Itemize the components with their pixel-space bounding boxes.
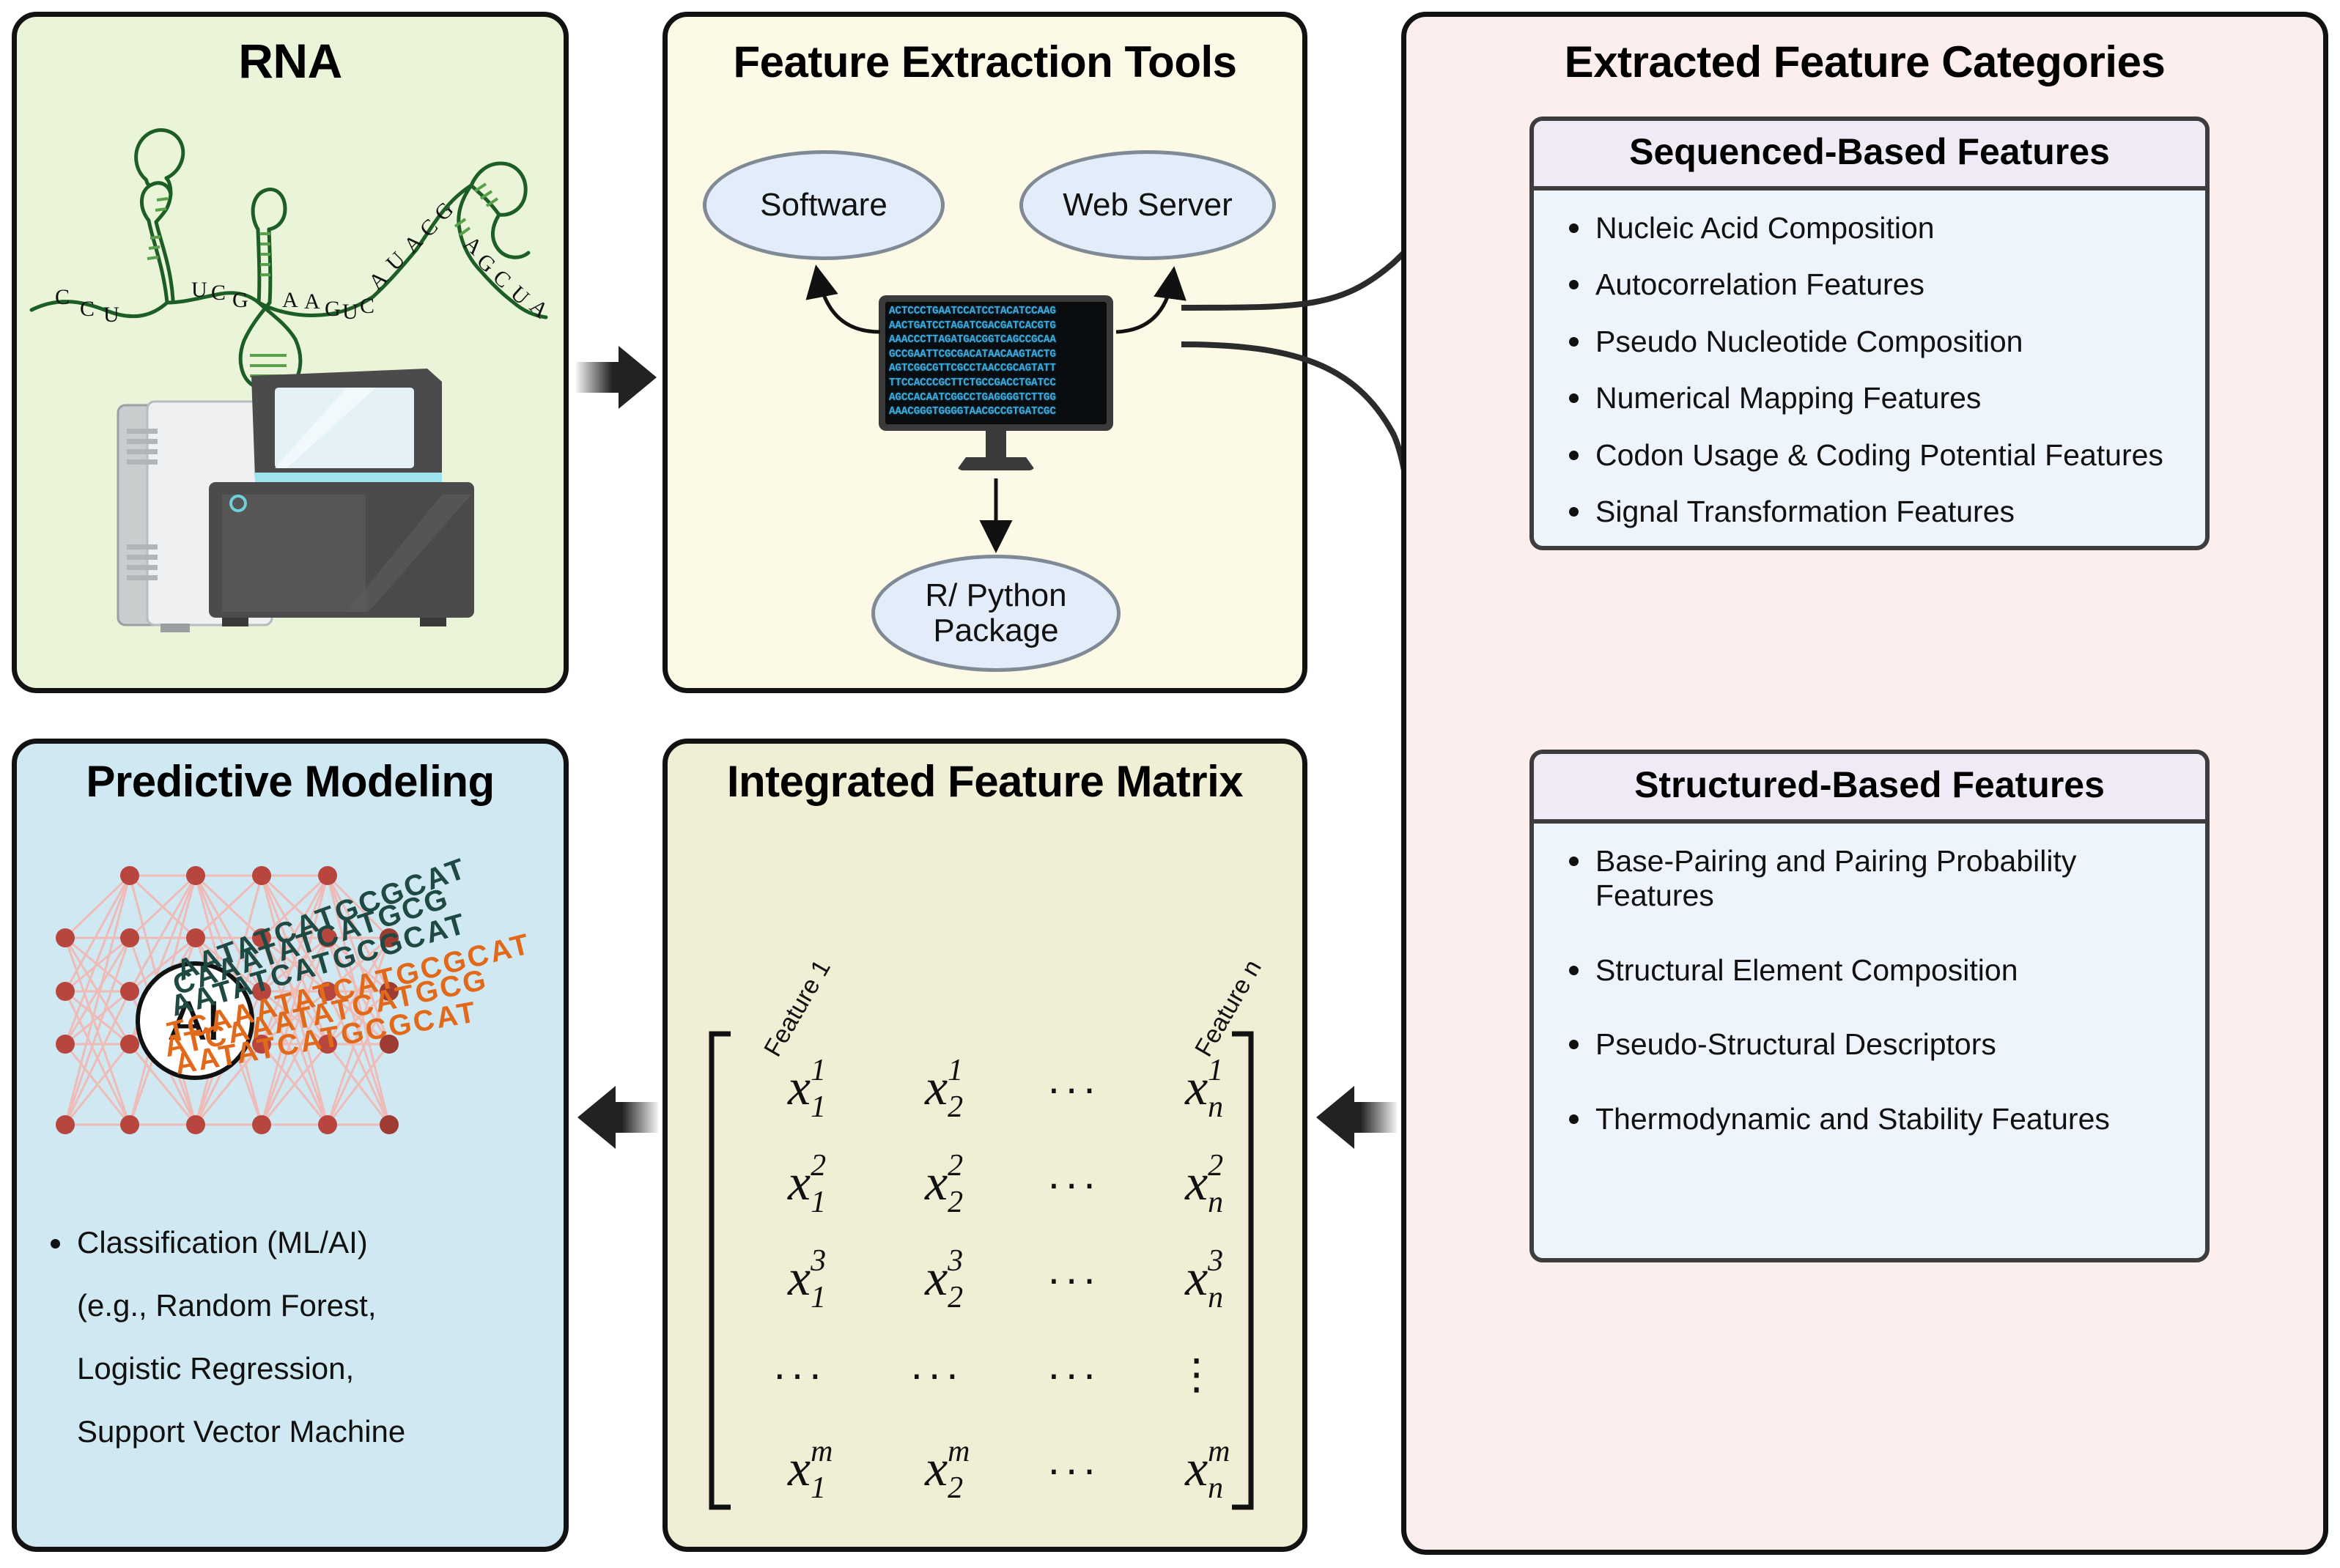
list-item: Codon Usage & Coding Potential Features xyxy=(1556,438,2186,473)
network-node xyxy=(56,982,75,1001)
rna-panel: RNA xyxy=(12,12,569,693)
arrow-left-icon xyxy=(1312,1077,1400,1158)
node-web-server[interactable]: Web Server xyxy=(1019,150,1276,260)
rna-panel-title: RNA xyxy=(17,36,564,86)
svg-text:C: C xyxy=(360,294,374,318)
sequence-line: ACTCCCTGAATCCATCCTACATCCAAG xyxy=(889,305,1103,319)
extracted-features-title: Extracted Feature Categories xyxy=(1406,39,2323,85)
list-item: Signal Transformation Features xyxy=(1556,495,2186,530)
sequenced-based-feature-list: Nucleic Acid Composition Autocorrelation… xyxy=(1534,191,2205,551)
svg-text:A: A xyxy=(525,295,553,323)
list-item: Logistic Regression, xyxy=(39,1353,552,1384)
arrow-to-web-server-icon xyxy=(1116,273,1173,332)
node-software[interactable]: Software xyxy=(703,150,945,260)
network-node xyxy=(318,1115,337,1134)
feature-matrix: Feature 1 Feature n x11 x12 ··· x1n x21 … xyxy=(701,901,1280,1524)
list-item: Base-Pairing and Pairing Probability Fea… xyxy=(1556,844,2186,914)
list-item: Pseudo-Structural Descriptors xyxy=(1556,1027,2186,1062)
rna-secondary-structure-diagram: CCU UCG AAG UC A U A C G A G C U A xyxy=(17,83,574,391)
matrix-cell: xmn xyxy=(1142,1421,1251,1517)
arrow-left-icon xyxy=(573,1077,661,1158)
svg-text:C: C xyxy=(55,285,70,309)
sequence-line: AGTCGGCGTTCGCCTAACCGCAGTATT xyxy=(889,362,1103,377)
svg-text:U: U xyxy=(191,278,207,302)
matrix-cell: xm2 xyxy=(868,1421,1005,1517)
monitor-screen: ACTCCCTGAATCCATCCTACATCCAAG AACTGATCCTAG… xyxy=(879,295,1113,431)
predictive-modeling-title: Predictive Modeling xyxy=(17,758,564,805)
matrix-cell: x1n xyxy=(1142,1040,1251,1136)
matrix-cell: x11 xyxy=(731,1040,868,1136)
list-item: Nucleic Acid Composition xyxy=(1556,211,2186,246)
sequence-readout: ACTCCCTGAATCCATCCTACATCCAAG AACTGATCCTAG… xyxy=(885,302,1107,424)
list-item: Thermodynamic and Stability Features xyxy=(1556,1102,2186,1137)
svg-text:U: U xyxy=(382,247,410,275)
matrix-cell: x2n xyxy=(1142,1136,1251,1231)
network-node xyxy=(56,928,75,947)
sequence-line: AAACCCTTAGATGACGGTCAGCCGCAA xyxy=(889,333,1103,348)
matrix-ellipsis: ··· xyxy=(731,1326,868,1421)
sequence-line: GCCGAATTCGCGACATAACAAGTACTG xyxy=(889,348,1103,363)
matrix-cell: x22 xyxy=(868,1136,1005,1231)
feature-extraction-title: Feature Extraction Tools xyxy=(668,39,1302,85)
table-row: x11 x12 ··· x1n xyxy=(731,1040,1251,1136)
network-node xyxy=(120,928,139,947)
sequenced-based-heading: Sequenced-Based Features xyxy=(1534,121,2205,191)
matrix-cell: x12 xyxy=(868,1040,1005,1136)
matrix-cell: x31 xyxy=(731,1231,868,1326)
svg-text:G: G xyxy=(232,288,248,312)
sequence-line: AAACGGGTGGGGTAACGCCGTGATCGC xyxy=(889,405,1103,420)
node-software-label: Software xyxy=(760,188,887,223)
monitor-stand xyxy=(986,431,1006,460)
arrow-right-icon xyxy=(573,337,661,418)
matrix-ellipsis: ··· xyxy=(1005,1421,1142,1517)
sequence-line: AACTGATCCTAGATCGACGATCACGTG xyxy=(889,319,1103,334)
feature-extraction-tools-panel: Feature Extraction Tools Software Web Se… xyxy=(662,12,1307,693)
table-row: x21 x22 ··· x2n xyxy=(731,1136,1251,1231)
svg-text:U: U xyxy=(506,281,534,310)
network-node xyxy=(120,866,139,885)
matrix-vertical-ellipsis: ⋮ xyxy=(1142,1326,1251,1421)
table-row: xm1 xm2 ··· xmn xyxy=(731,1421,1251,1517)
list-item: Autocorrelation Features xyxy=(1556,267,2186,303)
list-item: (e.g., Random Forest, xyxy=(39,1290,552,1321)
matrix-ellipsis: ··· xyxy=(868,1326,1005,1421)
sequence-line: TTCCACCCGCTTCTGCCGACCTGATCC xyxy=(889,377,1103,391)
computer-monitor-icon: ACTCCCTGAATCCATCCTACATCCAAG AACTGATCCTAG… xyxy=(879,295,1113,478)
network-node xyxy=(252,1115,271,1134)
rna-base-labels: CCU UCG AAG UC A U A C G A G C U A xyxy=(55,197,553,327)
matrix-cell: x21 xyxy=(731,1136,868,1231)
matrix-cell: x3n xyxy=(1142,1231,1251,1326)
svg-text:U: U xyxy=(342,300,358,324)
integrated-feature-matrix-panel: Integrated Feature Matrix Feature 1 Feat… xyxy=(662,739,1307,1552)
svg-text:A: A xyxy=(304,289,320,314)
sequenced-based-features-card: Sequenced-Based Features Nucleic Acid Co… xyxy=(1529,117,2210,550)
network-node xyxy=(186,1115,205,1134)
structured-based-heading: Structured-Based Features xyxy=(1534,754,2205,824)
list-item: Classification (ML/AI) xyxy=(39,1227,552,1258)
network-node xyxy=(120,982,139,1001)
svg-text:U: U xyxy=(103,303,119,327)
dna-sequence-fan: AATATCATGCGCAT CAAATATCATGCG AATATCATGCG… xyxy=(160,817,577,1095)
matrix-ellipsis: ··· xyxy=(1005,1231,1142,1326)
network-node xyxy=(120,1115,139,1134)
matrix-table: x11 x12 ··· x1n x21 x22 ··· x2n x31 x32 … xyxy=(731,1040,1251,1517)
svg-text:G: G xyxy=(325,297,341,321)
matrix-ellipsis: ··· xyxy=(1005,1136,1142,1231)
svg-text:C: C xyxy=(488,265,515,293)
matrix-ellipsis: ··· xyxy=(1005,1040,1142,1136)
svg-text:C: C xyxy=(80,297,95,321)
extracted-feature-categories-panel: Extracted Feature Categories Sequenced-B… xyxy=(1401,12,2328,1555)
sequence-line: AGCCACAATCGGCCTGAGGGGTCTTGG xyxy=(889,391,1103,406)
table-row: x31 x32 ··· x3n xyxy=(731,1231,1251,1326)
arrow-to-software-icon xyxy=(817,272,880,332)
matrix-ellipsis: ··· xyxy=(1005,1326,1142,1421)
list-item: Structural Element Composition xyxy=(1556,953,2186,988)
list-item: Pseudo Nucleotide Composition xyxy=(1556,325,2186,360)
matrix-cell: x32 xyxy=(868,1231,1005,1326)
list-item: Support Vector Machine xyxy=(39,1416,552,1447)
svg-text:A: A xyxy=(364,266,393,295)
network-node xyxy=(56,1035,75,1054)
node-r-python-label: R/ Python Package xyxy=(925,578,1066,649)
node-r-python-package[interactable]: R/ Python Package xyxy=(871,555,1121,672)
network-node xyxy=(120,1035,139,1054)
svg-text:C: C xyxy=(211,281,226,305)
structured-based-features-card: Structured-Based Features Base-Pairing a… xyxy=(1529,750,2210,1262)
matrix-cell: xm1 xyxy=(731,1421,868,1517)
predictive-modeling-list: Classification (ML/AI) (e.g., Random For… xyxy=(39,1227,552,1479)
table-row: ··· ··· ··· ⋮ xyxy=(731,1326,1251,1421)
integrated-feature-matrix-title: Integrated Feature Matrix xyxy=(668,758,1302,805)
list-item: Numerical Mapping Features xyxy=(1556,381,2186,416)
svg-text:A: A xyxy=(282,288,298,312)
dna-sequencer-icon xyxy=(105,361,493,669)
predictive-modeling-panel: Predictive Modeling AI AATATCATGCGCAT CA… xyxy=(12,739,569,1552)
network-node xyxy=(380,1115,399,1134)
monitor-base xyxy=(956,457,1036,470)
node-web-server-label: Web Server xyxy=(1063,188,1233,223)
structured-based-feature-list: Base-Pairing and Pairing Probability Fea… xyxy=(1534,824,2205,1191)
network-node xyxy=(56,1115,75,1134)
